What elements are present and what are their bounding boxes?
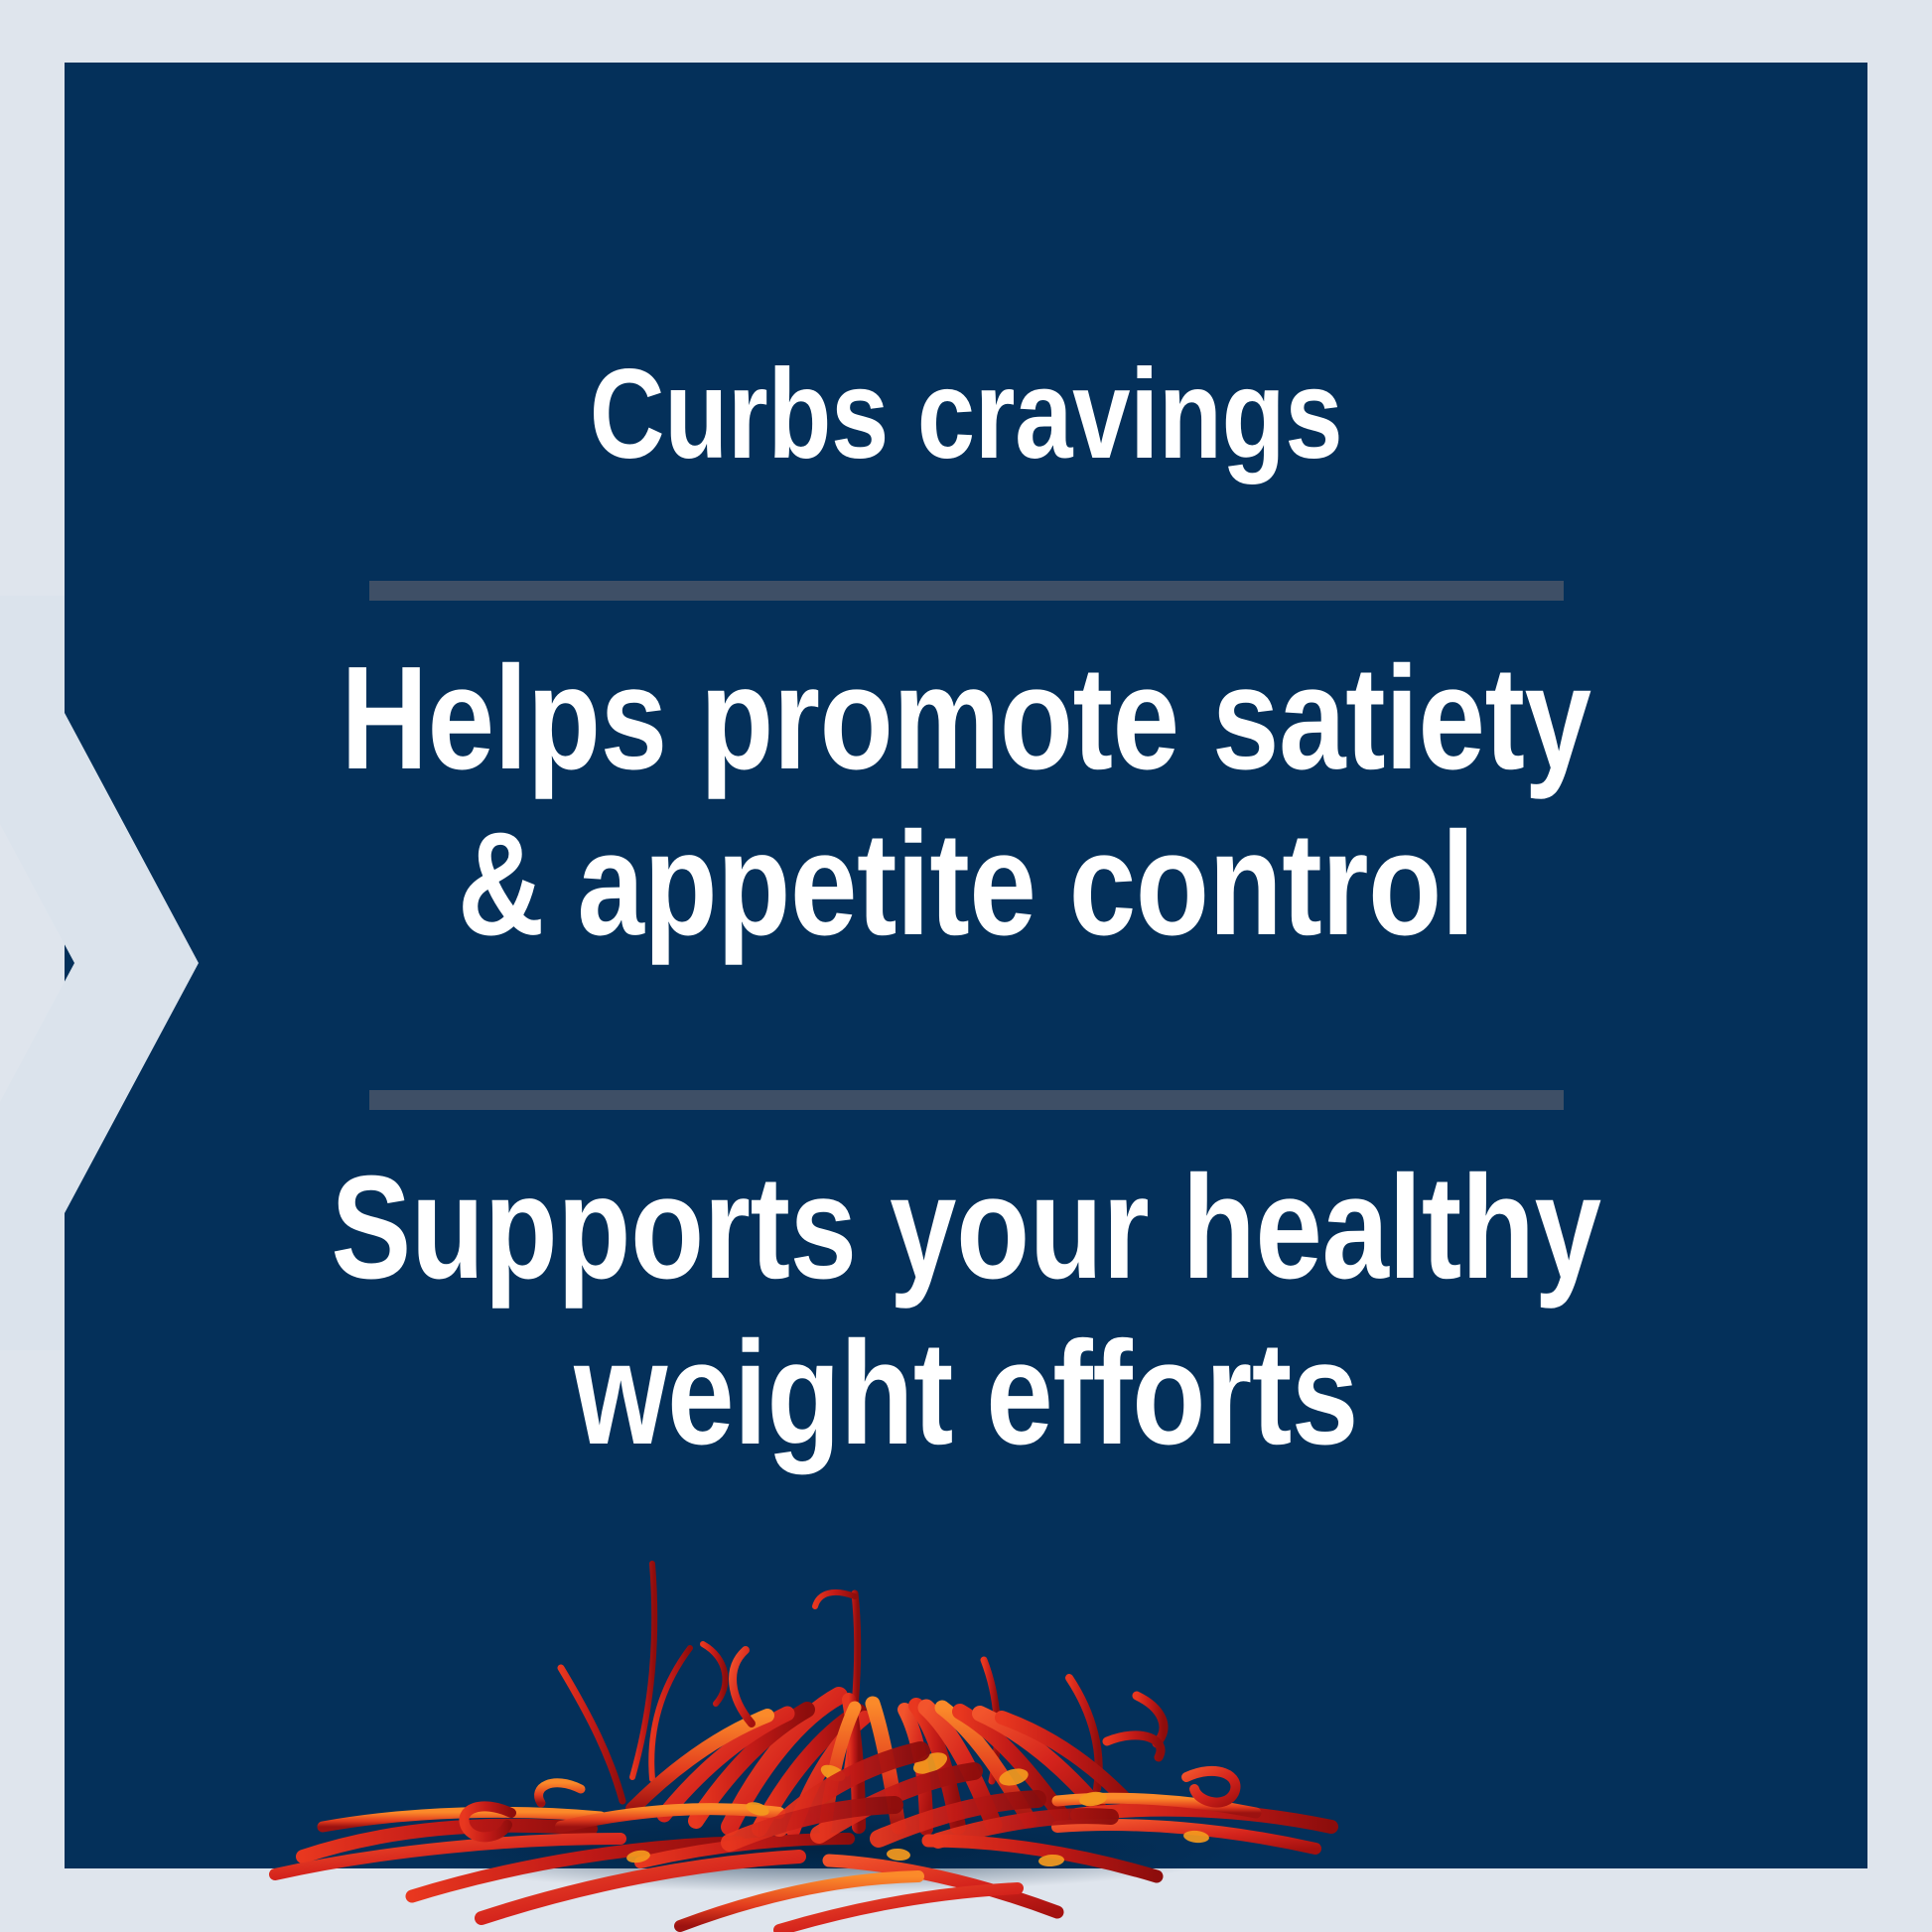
- benefit-2-line-1: Helps promote satiety: [226, 601, 1705, 800]
- benefit-3-line-2: weight efforts: [226, 1310, 1705, 1475]
- benefit-1-line-1: Curbs cravings: [226, 63, 1705, 485]
- benefit-2-line-2: & appetite control: [226, 800, 1705, 966]
- benefit-3-line-1: Supports your healthy: [226, 1110, 1705, 1310]
- divider-1: [369, 581, 1564, 601]
- benefit-item-2: Helps promote satiety & appetite control: [65, 601, 1867, 966]
- promo-graphic: Curbs cravings Helps promote satiety & a…: [0, 0, 1932, 1932]
- divider-2: [369, 1090, 1564, 1110]
- benefit-item-1: Curbs cravings: [65, 63, 1867, 485]
- benefit-item-3: Supports your healthy weight efforts: [65, 1110, 1867, 1475]
- benefits-copy-stack: Curbs cravings Helps promote satiety & a…: [65, 63, 1867, 1475]
